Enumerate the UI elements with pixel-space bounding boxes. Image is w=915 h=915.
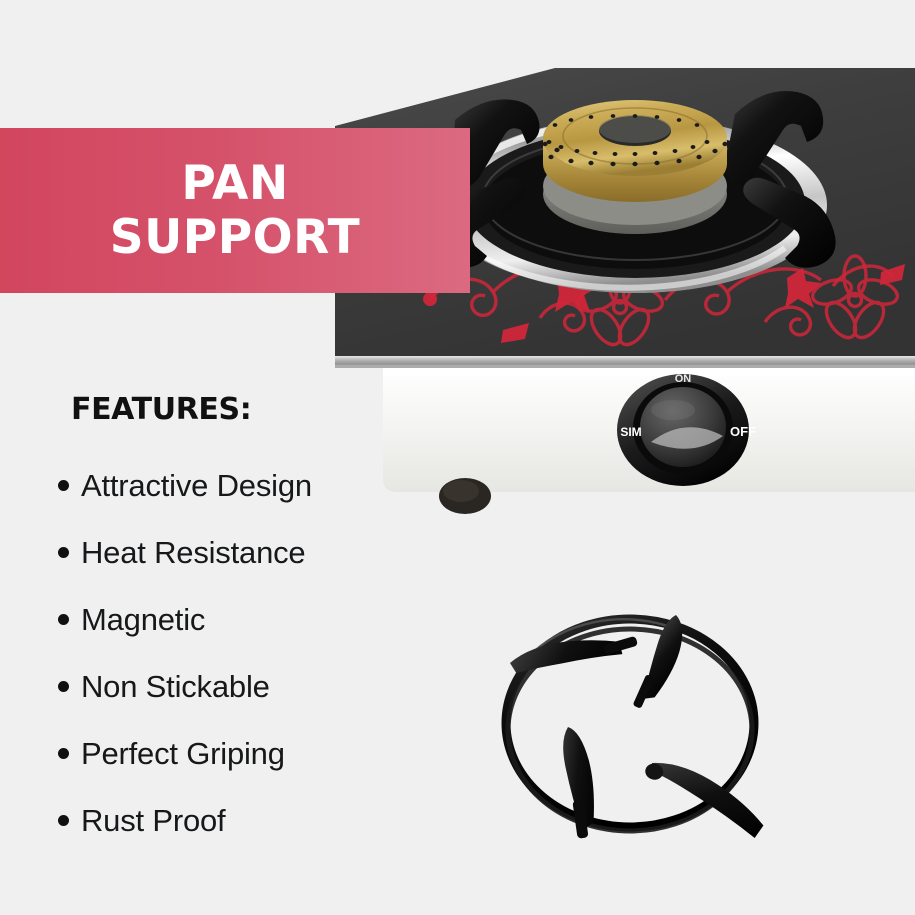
list-item: Rust Proof xyxy=(58,787,418,854)
features-heading: FEATURES: xyxy=(71,392,251,427)
bullet-icon xyxy=(58,547,69,558)
feature-label: Non Stickable xyxy=(81,669,270,705)
burner-center-hole-rim xyxy=(599,115,671,143)
list-item: Heat Resistance xyxy=(58,519,418,586)
bullet-icon xyxy=(58,815,69,826)
list-item: Attractive Design xyxy=(58,452,418,519)
feature-label: Attractive Design xyxy=(81,468,312,504)
glass-edge-trim xyxy=(335,356,915,365)
knob-label-sim: SIM xyxy=(620,425,641,439)
banner-title-line2: SUPPORT xyxy=(110,211,361,264)
knob-face xyxy=(640,387,726,467)
knob-label-off: OFF xyxy=(730,424,756,439)
features-list: Attractive Design Heat Resistance Magnet… xyxy=(58,452,418,854)
bullet-icon xyxy=(58,681,69,692)
body-highlight xyxy=(383,368,915,376)
trivet-illustration xyxy=(440,555,820,875)
stove-foot-highlight xyxy=(443,480,479,502)
bullet-icon xyxy=(58,480,69,491)
pan-support-trivet-photo xyxy=(440,555,820,875)
banner-title-line1: PAN xyxy=(181,157,288,210)
feature-label: Rust Proof xyxy=(81,803,225,839)
bullet-icon xyxy=(58,614,69,625)
list-item: Magnetic xyxy=(58,586,418,653)
knob-label-on: ON xyxy=(675,373,692,385)
list-item: Non Stickable xyxy=(58,653,418,720)
poster-canvas: SIM ON OFF PAN SUPPORT FEATURES: Attract… xyxy=(0,0,915,915)
knob-gloss xyxy=(651,400,695,420)
list-item: Perfect Griping xyxy=(58,720,418,787)
trim-shadow xyxy=(335,364,915,368)
feature-label: Perfect Griping xyxy=(81,736,285,772)
feature-label: Magnetic xyxy=(81,602,205,638)
bullet-icon xyxy=(58,748,69,759)
pan-support-banner: PAN SUPPORT xyxy=(0,128,470,293)
feature-label: Heat Resistance xyxy=(81,535,305,571)
